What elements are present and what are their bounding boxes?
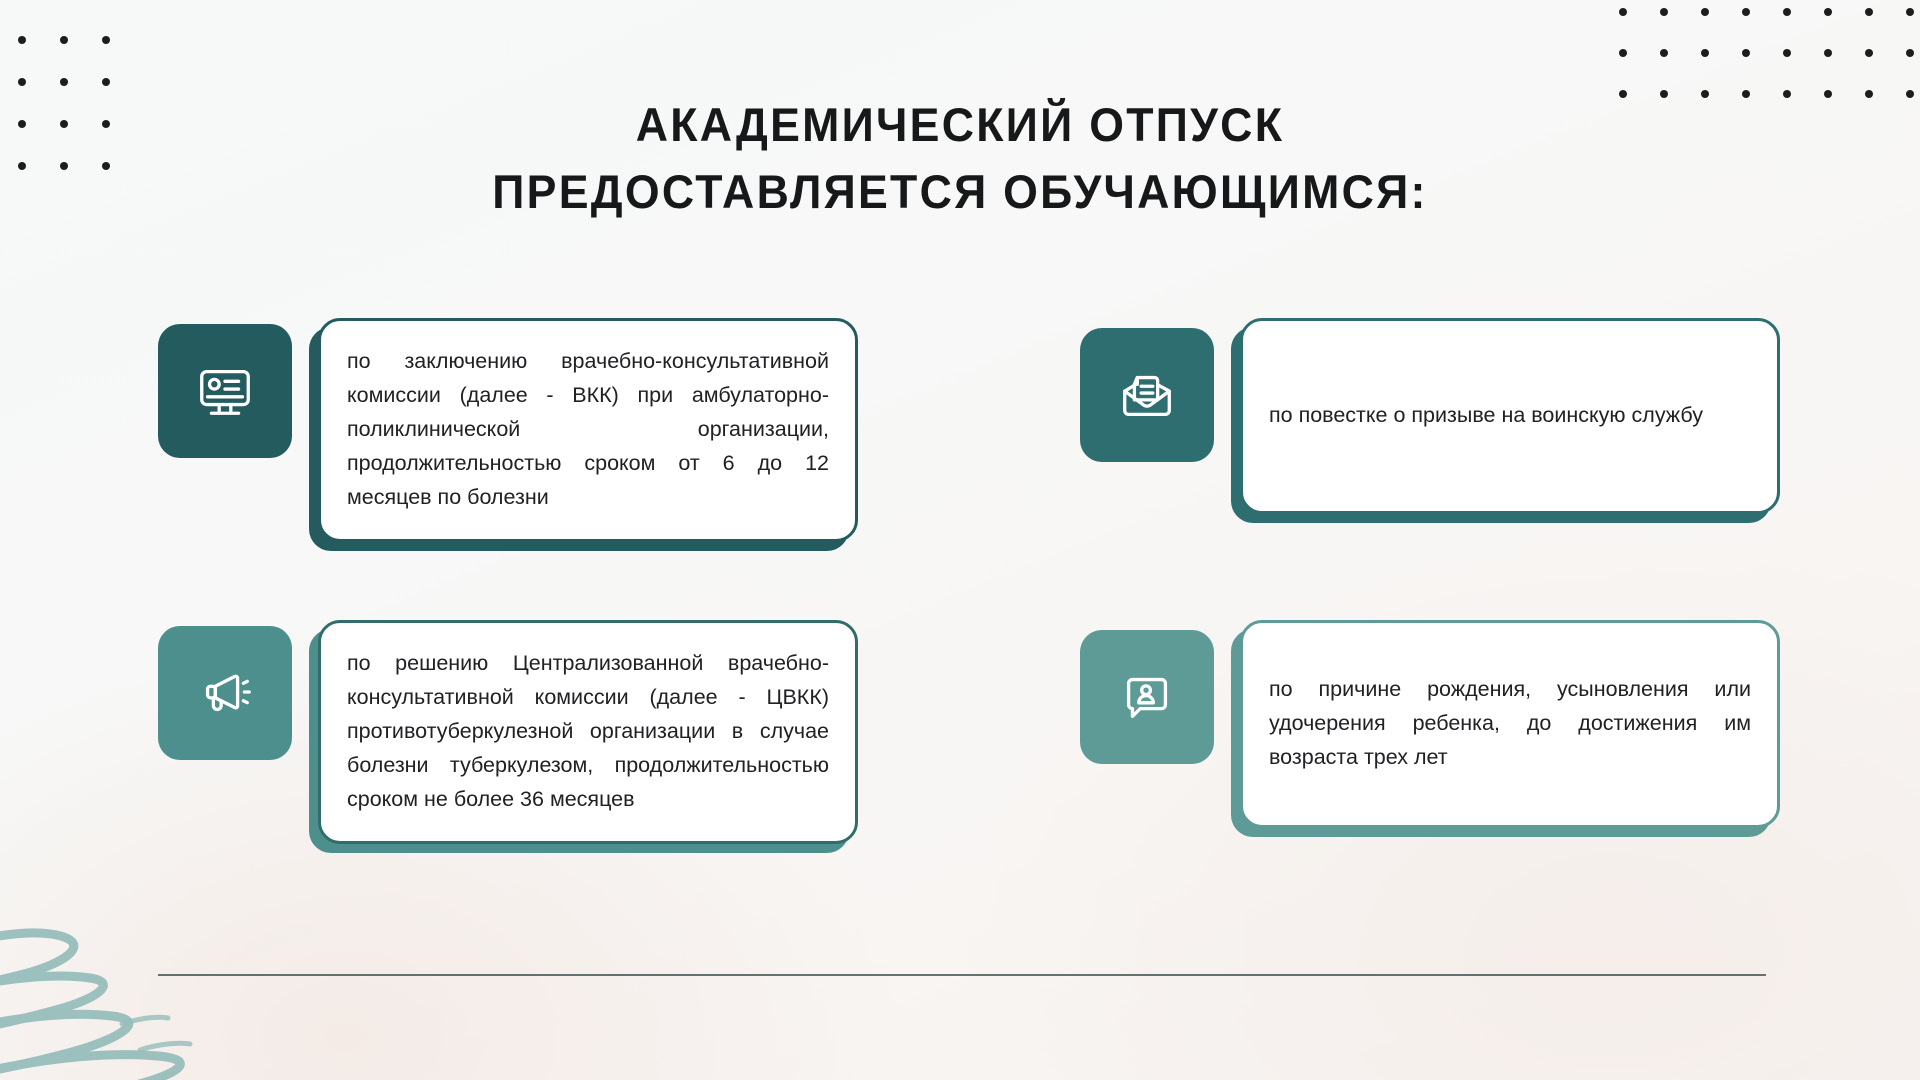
icon-tile-3 [158, 626, 292, 760]
dot [18, 36, 26, 44]
bubble-wrap-4: по причине рождения, усыновления или удо… [1240, 620, 1780, 828]
dot [18, 78, 26, 86]
card-grid: по заключению врачебно-консультативной к… [158, 318, 1780, 844]
dot [1865, 8, 1873, 16]
dot [102, 78, 110, 86]
dot [1783, 49, 1791, 57]
dot [1742, 8, 1750, 16]
dot [1619, 8, 1627, 16]
bubble-1: по заключению врачебно-консультативной к… [318, 318, 858, 542]
page-title: АКАДЕМИЧЕСКИЙ ОТПУСК ПРЕДОСТАВЛЯЕТСЯ ОБУ… [0, 92, 1920, 225]
card-text-2: по повестке о призыве на воинскую службу [1269, 399, 1751, 433]
card-item-3[interactable]: по решению Централизованной врачебно-кон… [158, 620, 858, 844]
icon-tile-1 [158, 324, 292, 458]
card-text-3: по решению Централизованной врачебно-кон… [347, 647, 829, 817]
dot [1824, 8, 1832, 16]
dot [1619, 49, 1627, 57]
dot-grid-top-right [1619, 8, 1914, 98]
slide-canvas: АКАДЕМИЧЕСКИЙ ОТПУСК ПРЕДОСТАВЛЯЕТСЯ ОБУ… [0, 0, 1920, 1080]
icon-tile-4 [1080, 630, 1214, 764]
dot [1865, 49, 1873, 57]
dot [1660, 8, 1668, 16]
monitor-id-card-icon [194, 360, 256, 422]
card-item-2[interactable]: по повестке о призыве на воинскую службу [1080, 318, 1780, 542]
divider-line [158, 974, 1766, 976]
dot [1701, 49, 1709, 57]
title-line-2: ПРЕДОСТАВЛЯЕТСЯ ОБУЧАЮЩИМСЯ: [48, 159, 1872, 226]
title-line-1: АКАДЕМИЧЕСКИЙ ОТПУСК [48, 92, 1872, 159]
dot [1783, 8, 1791, 16]
dot [1701, 8, 1709, 16]
bubble-4: по причине рождения, усыновления или удо… [1240, 620, 1780, 828]
dot [1660, 49, 1668, 57]
dot [1742, 49, 1750, 57]
bubble-wrap-3: по решению Централизованной врачебно-кон… [318, 620, 858, 844]
dot [102, 36, 110, 44]
card-item-4[interactable]: по причине рождения, усыновления или удо… [1080, 620, 1780, 844]
icon-tile-2 [1080, 328, 1214, 462]
dot [1906, 49, 1914, 57]
card-text-4: по причине рождения, усыновления или удо… [1269, 673, 1751, 775]
bubble-3: по решению Централизованной врачебно-кон… [318, 620, 858, 844]
card-text-1: по заключению врачебно-консультативной к… [347, 345, 829, 515]
open-envelope-letter-icon [1116, 364, 1178, 426]
dot [60, 36, 68, 44]
bubble-wrap-2: по повестке о призыве на воинскую службу [1240, 318, 1780, 514]
bubble-wrap-1: по заключению врачебно-консультативной к… [318, 318, 858, 542]
dot [60, 78, 68, 86]
scribble-decoration-icon [0, 914, 272, 1080]
person-chat-bubble-icon [1116, 666, 1178, 728]
dot [1824, 49, 1832, 57]
card-item-1[interactable]: по заключению врачебно-консультативной к… [158, 318, 858, 542]
dot [1906, 8, 1914, 16]
megaphone-icon [194, 662, 256, 724]
bubble-2: по повестке о призыве на воинскую службу [1240, 318, 1780, 514]
